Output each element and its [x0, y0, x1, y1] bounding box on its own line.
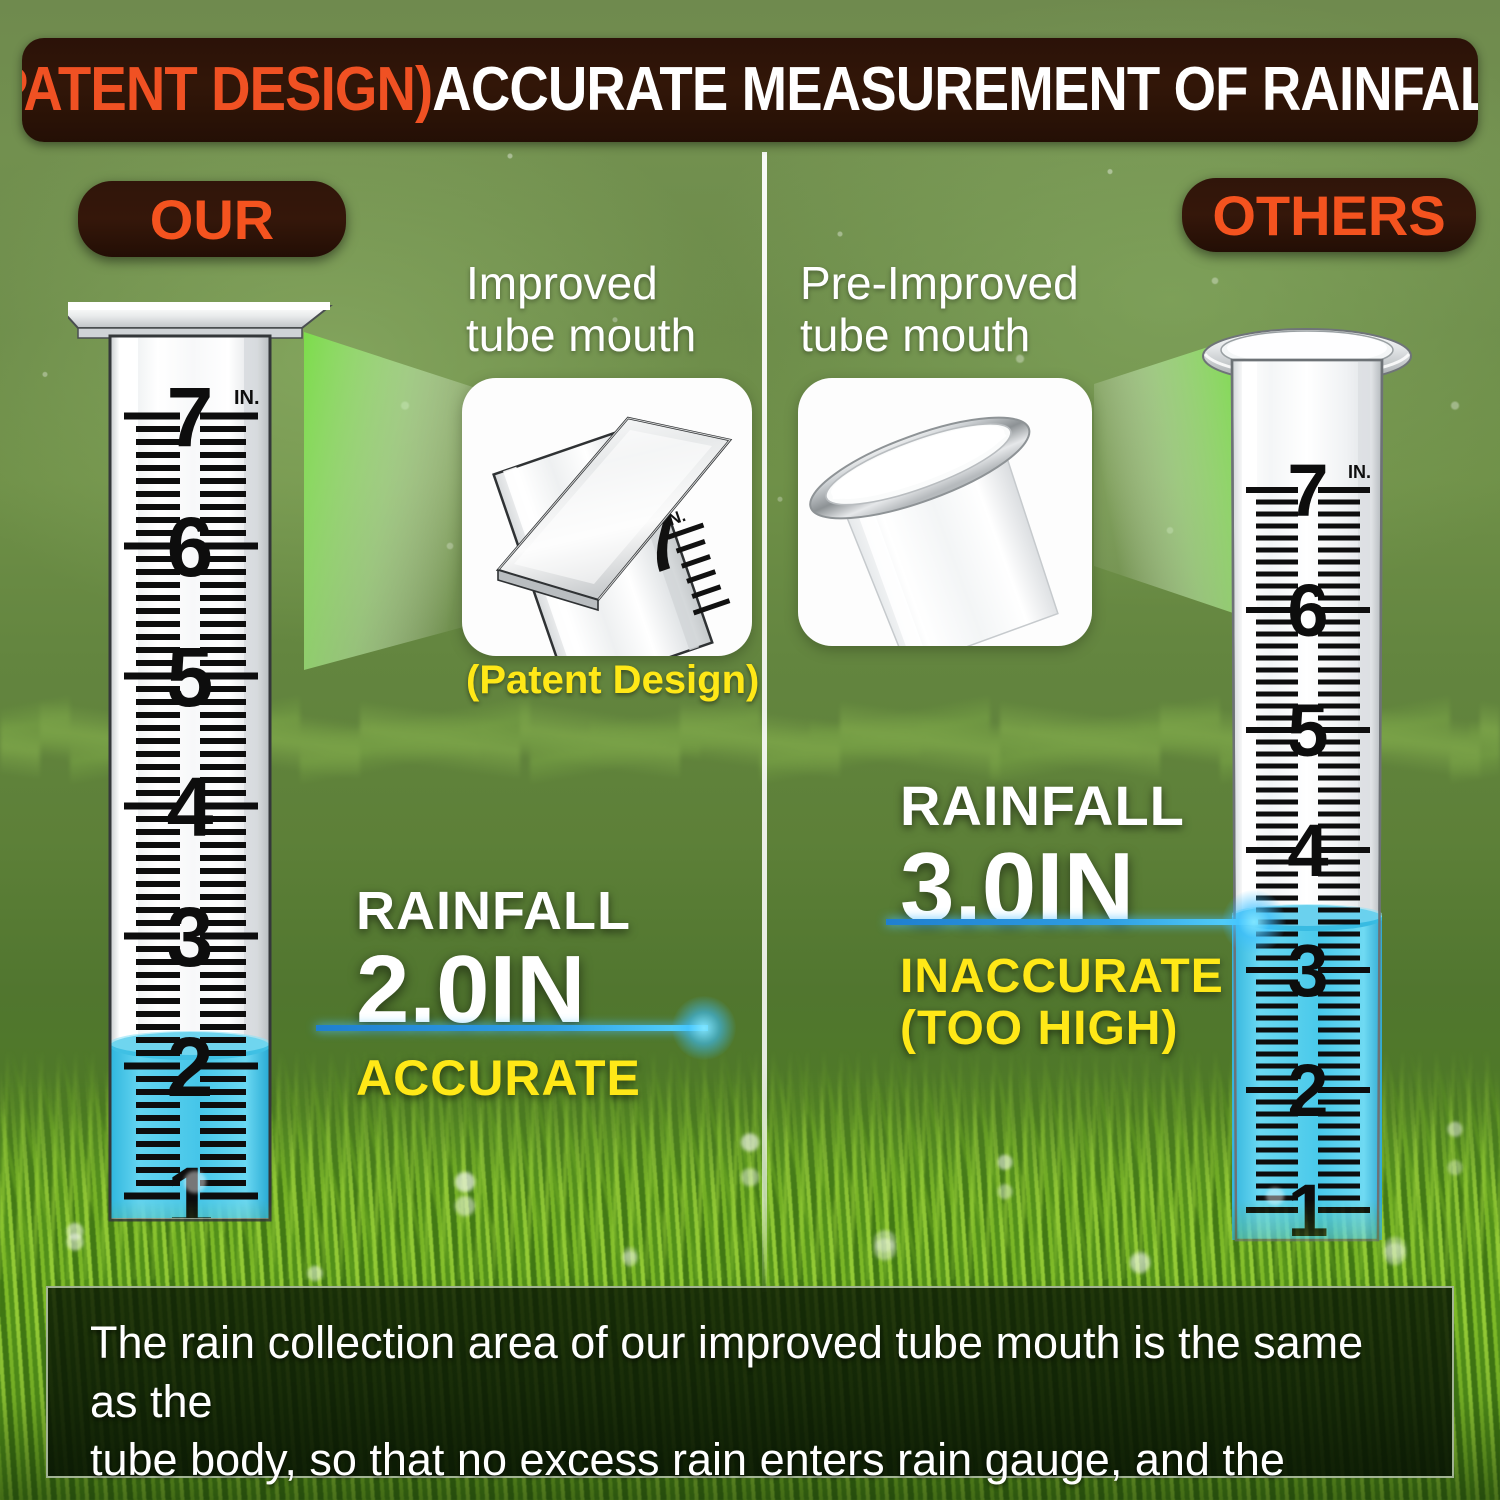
callout-label-improved: Improved tube mouth	[466, 258, 756, 361]
readout-our-word: RAINFALL	[356, 884, 716, 938]
level-indicator-glow-our	[672, 996, 736, 1060]
readout-others-note-line1: INACCURATE	[900, 952, 1280, 1002]
callout-label-preimproved: Pre-Improved tube mouth	[800, 258, 1120, 361]
readout-others-note-line2: (TOO HIGH)	[900, 1004, 1280, 1054]
level-indicator-line-others	[886, 919, 1258, 925]
readout-others-word: RAINFALL	[900, 778, 1280, 834]
inset-card-preimproved-mouth	[798, 378, 1092, 646]
svg-text:IN.: IN.	[1348, 462, 1371, 482]
badge-our-label: OUR	[150, 187, 274, 252]
footer-description-panel: The rain collection area of our improved…	[46, 1286, 1454, 1478]
badge-others: OTHERS	[1182, 178, 1476, 252]
header-title-text: ACCURATE MEASUREMENT OF RAINFALL	[433, 55, 1478, 124]
footer-line-1: The rain collection area of our improved…	[90, 1314, 1418, 1431]
infographic-stage: (PATENT DESIGN)ACCURATE MEASUREMENT OF R…	[0, 0, 1500, 1500]
callout-label-improved-line1: Improved	[466, 258, 756, 310]
inset-caption-patent-design: (Patent Design)	[466, 658, 759, 703]
svg-text:IN.: IN.	[234, 387, 260, 409]
callout-label-preimproved-line1: Pre-Improved	[800, 258, 1120, 310]
header-highlight: (PATENT DESIGN)	[22, 55, 433, 124]
level-indicator-line-our	[316, 1025, 708, 1031]
header-title: (PATENT DESIGN)ACCURATE MEASUREMENT OF R…	[22, 59, 1478, 121]
badge-our: OUR	[78, 181, 346, 257]
preimproved-tube-mouth-illustration	[798, 378, 1092, 646]
flat-flange-mouth	[68, 302, 330, 338]
level-indicator-glow-others	[1222, 890, 1286, 954]
header-banner: (PATENT DESIGN)ACCURATE MEASUREMENT OF R…	[22, 38, 1478, 142]
badge-others-label: OTHERS	[1212, 183, 1445, 248]
callout-label-improved-line2: tube mouth	[466, 310, 756, 362]
readout-our-value: 2.0IN	[356, 942, 716, 1038]
readout-our: RAINFALL 2.0IN ACCURATE	[356, 884, 716, 1105]
callout-label-preimproved-line2: tube mouth	[800, 310, 1120, 362]
rain-gauge-our-illustration: 7 6 5 4 3 2 1 IN.	[68, 286, 348, 1246]
readout-our-note: ACCURATE	[356, 1052, 716, 1105]
inset-card-improved-mouth: 7 IN.	[462, 378, 752, 656]
footer-line-2: tube body, so that no excess rain enters…	[90, 1431, 1418, 1500]
rain-gauge-our: 7 6 5 4 3 2 1 IN.	[68, 286, 348, 1246]
improved-tube-mouth-illustration: 7 IN.	[462, 378, 752, 656]
